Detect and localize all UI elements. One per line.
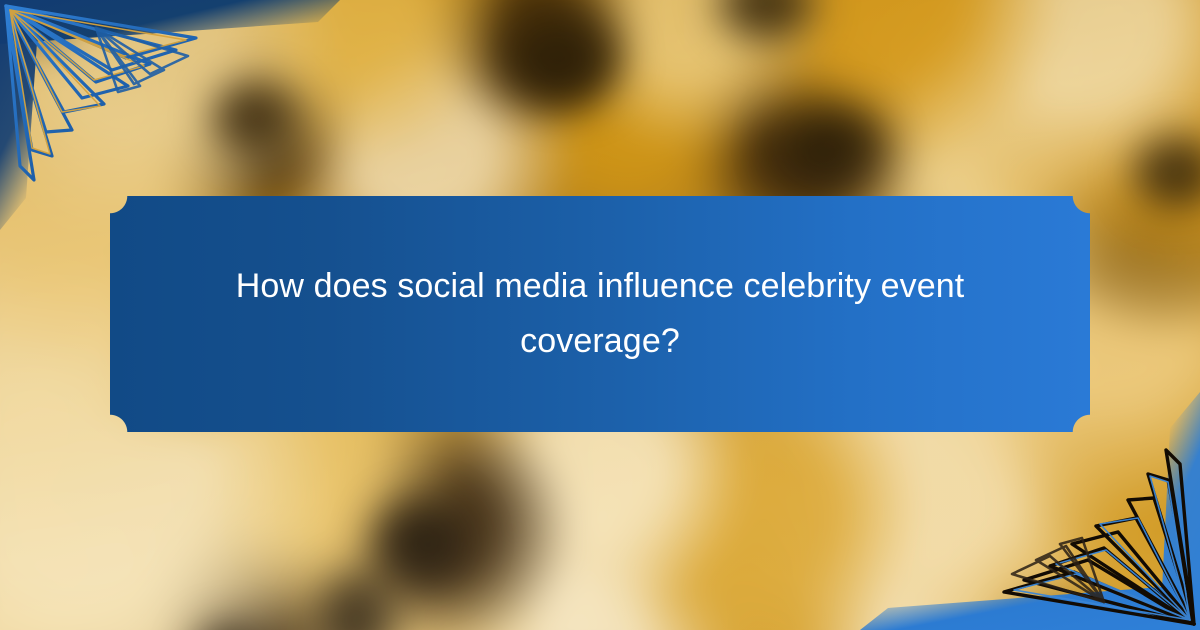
- question-banner: How does social media influence celebrit…: [110, 196, 1090, 432]
- poster-canvas: How does social media influence celebrit…: [0, 0, 1200, 630]
- question-text: How does social media influence celebrit…: [180, 259, 1020, 369]
